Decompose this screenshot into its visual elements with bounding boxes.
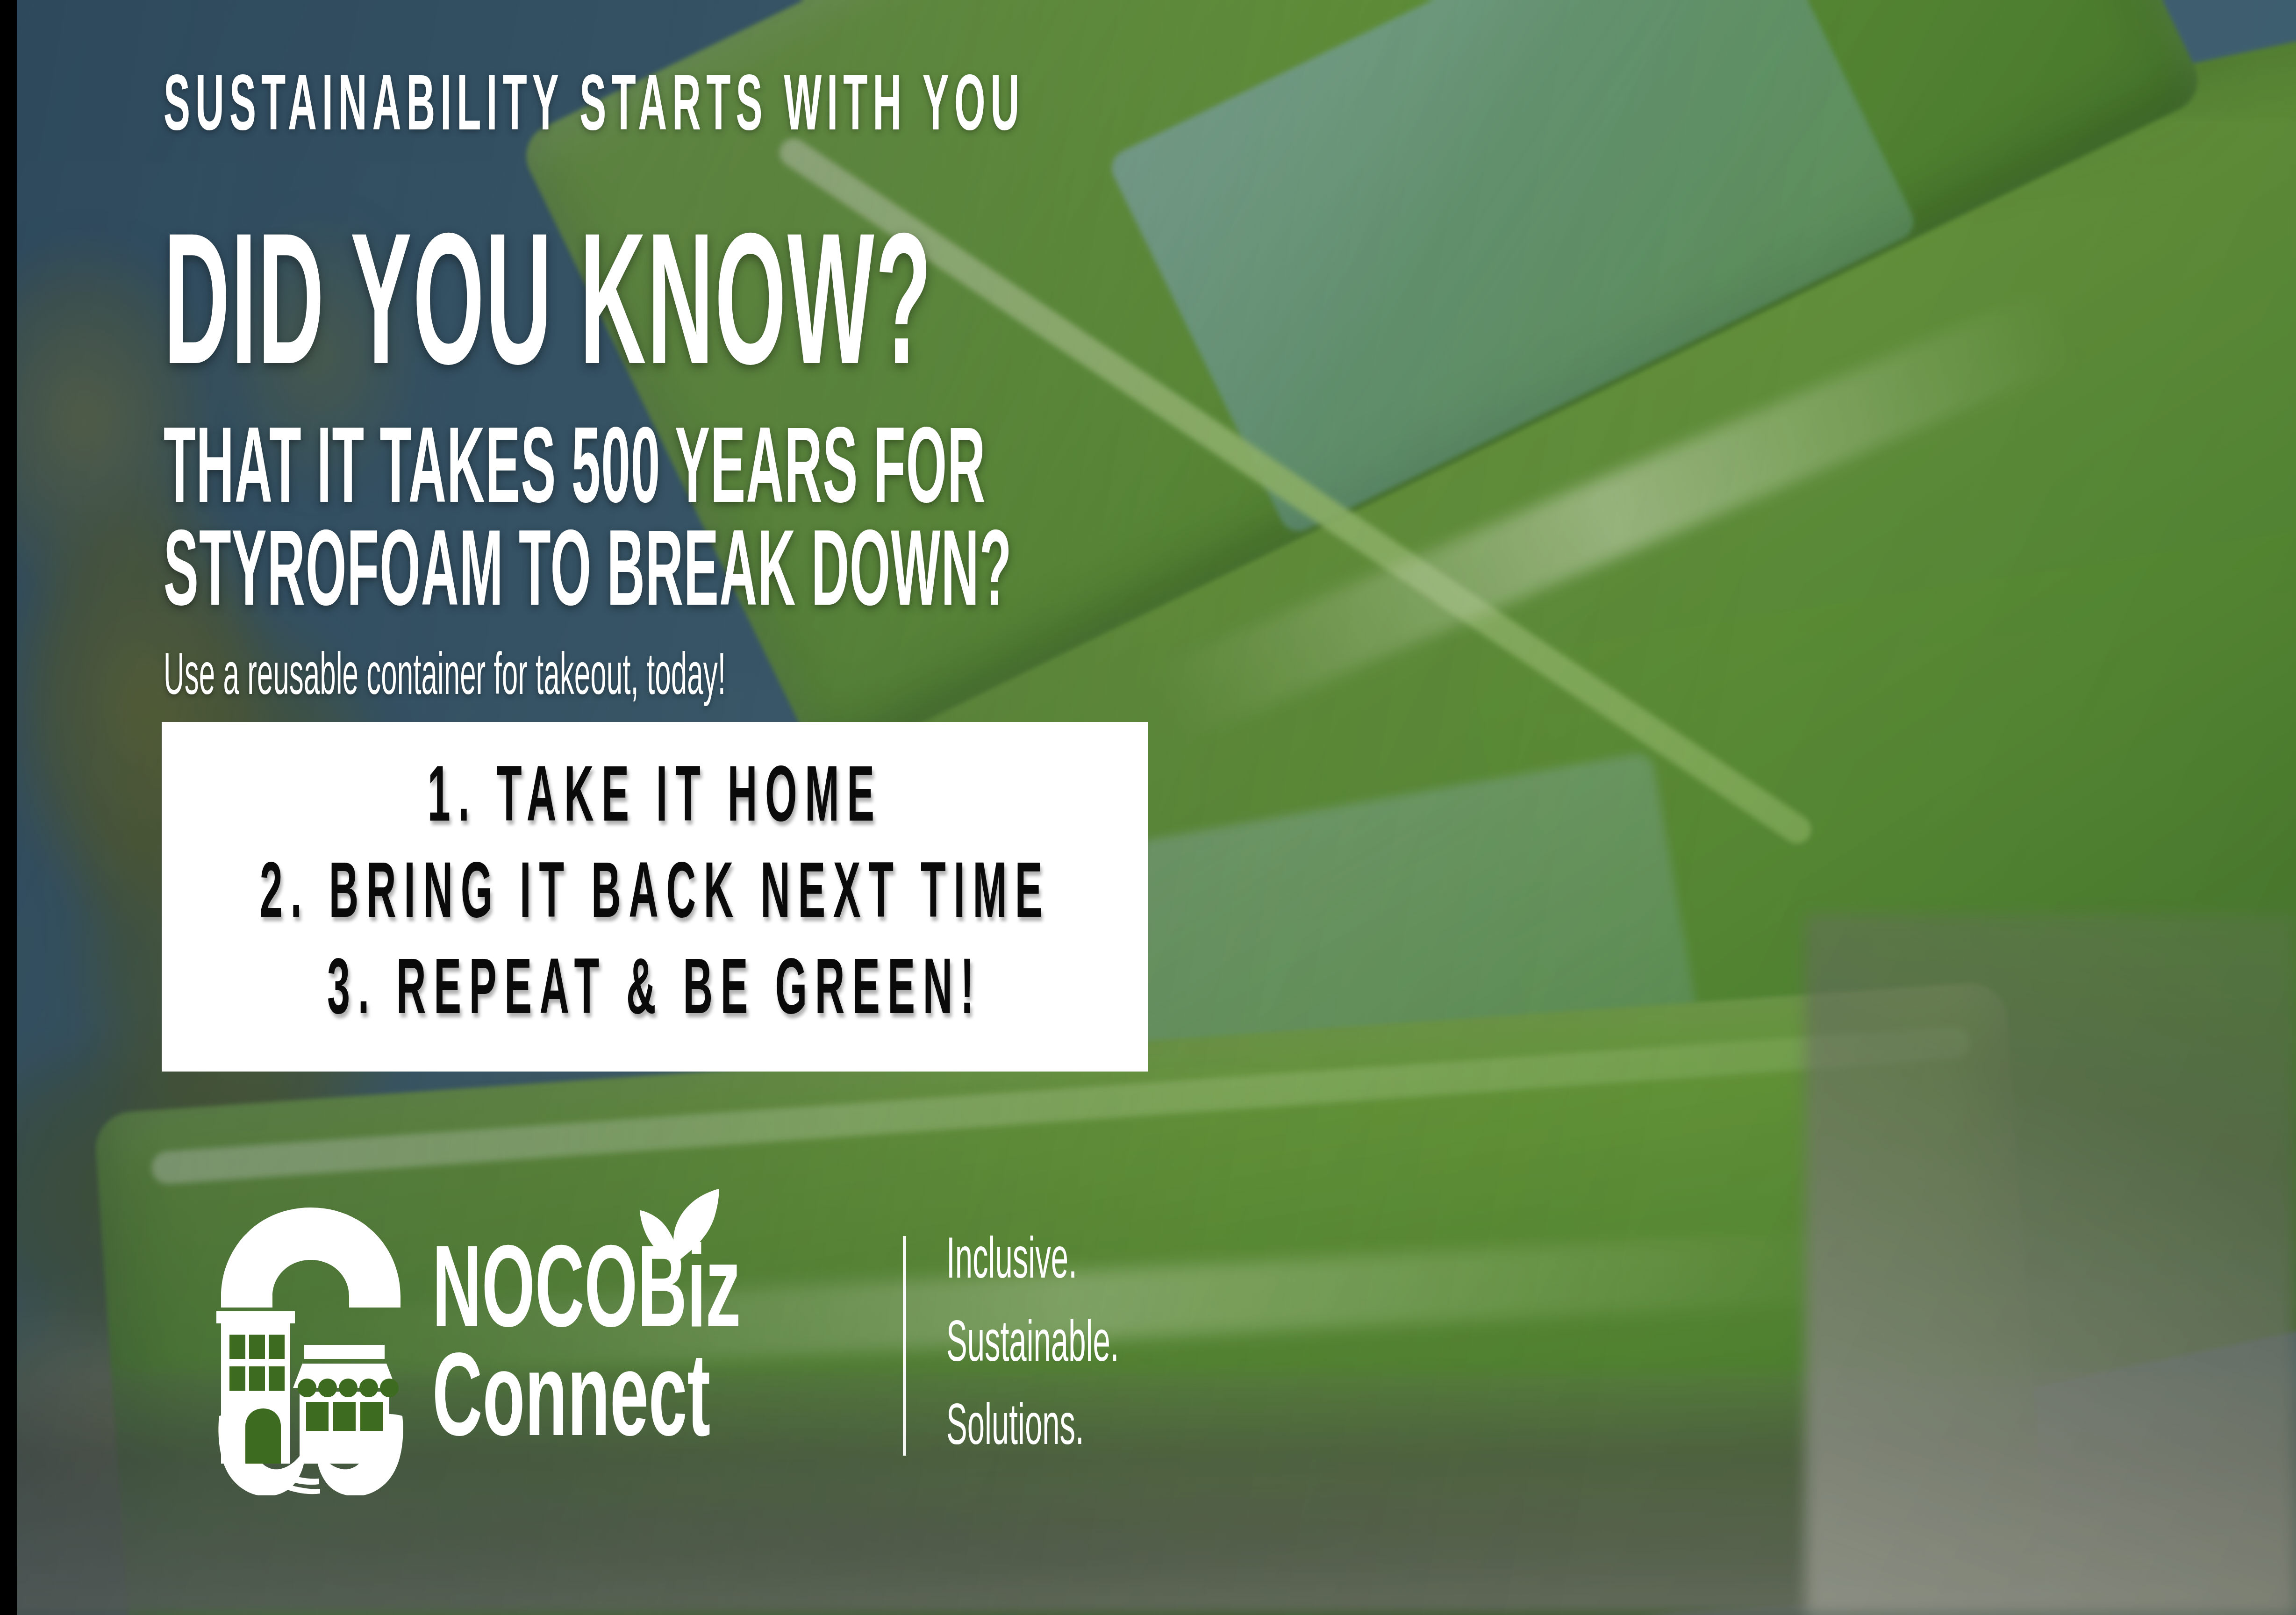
nocobiz-emblem-icon (213, 1196, 409, 1495)
brand-logo-lockup: NOCOBiz Connect Incl (213, 1196, 1208, 1495)
wordmark-connect: Connect (432, 1346, 740, 1464)
leaf-icon (637, 1186, 721, 1265)
steps-panel: 1. TAKE IT HOME 2. BRING IT BACK NEXT TI… (162, 722, 1148, 1072)
list-item: 2. BRING IT BACK NEXT TIME (259, 858, 1050, 936)
subheadline-line-1: THAT IT TAKES 500 YEARS FOR (164, 421, 986, 528)
subheadline-line-2: STYROFOAM TO BREAK DOWN? (164, 523, 1012, 631)
brand-tagline: Inclusive. Sustainable. Solutions. (946, 1234, 1208, 1458)
wordmark-row-top: NOCOBiz (432, 1238, 860, 1346)
poster-canvas: SUSTAINABILITY STARTS WITH YOU DID YOU K… (0, 0, 2296, 1615)
wordmark-row-bottom: Connect (432, 1346, 860, 1453)
list-item: 1. TAKE IT HOME (427, 761, 882, 840)
brand-tagline-line: Sustainable. (946, 1317, 1119, 1375)
list-item: 3. REPEAT & BE GREEN! (327, 954, 982, 1032)
brand-wordmark: NOCOBiz Connect (432, 1238, 860, 1453)
page-title: DID YOU KNOW? (164, 229, 933, 401)
call-to-action-tagline: Use a reusable container for takeout, to… (164, 650, 726, 708)
eyebrow-text: SUSTAINABILITY STARTS WITH YOU (164, 70, 1024, 149)
brand-tagline-line: Solutions. (946, 1400, 1119, 1458)
poster-content: SUSTAINABILITY STARTS WITH YOU DID YOU K… (0, 0, 2296, 1615)
logo-divider (903, 1236, 906, 1456)
brand-tagline-line: Inclusive. (946, 1234, 1119, 1292)
